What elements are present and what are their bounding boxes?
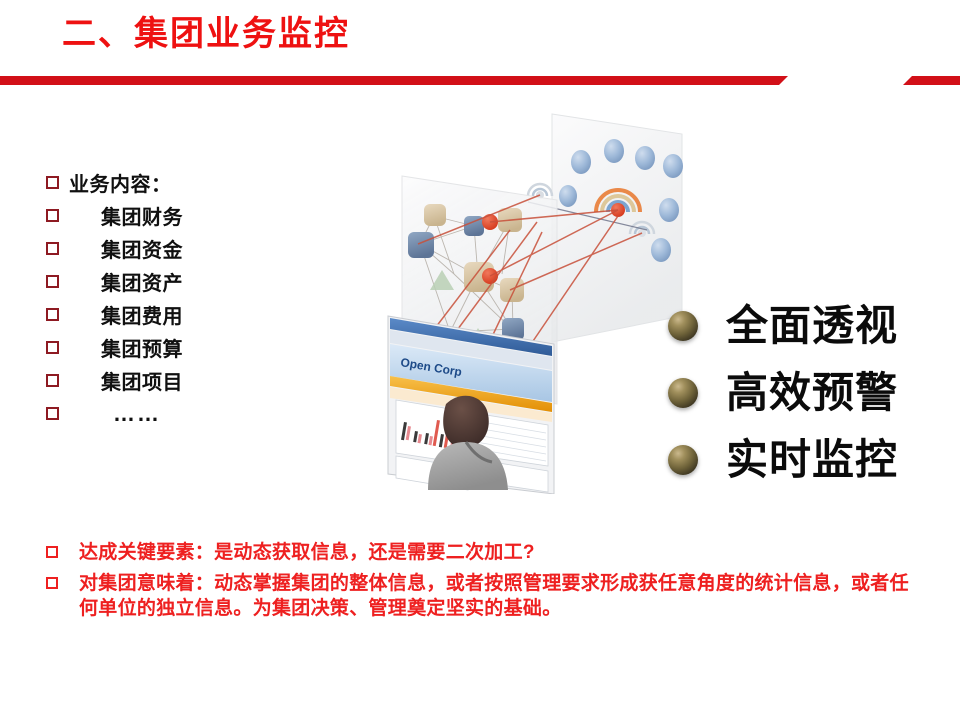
list-item-label: 集团资金 [101,234,183,263]
list-item-label: …… [113,401,161,427]
hollow-square-bullet-icon [46,407,59,420]
list-item: 对集团意味着：动态掌握集团的整体信息，或者按照管理要求形成获任意角度的统计信息，… [46,571,926,621]
hollow-square-bullet-icon [46,546,58,558]
list-item-label: 集团资产 [101,267,183,296]
key-point-text: 对集团意味着：动态掌握集团的整体信息，或者按照管理要求形成获任意角度的统计信息，… [79,571,926,621]
list-item: 高效预警 [668,359,958,426]
business-content-list: 业务内容： 集团财务 集团资金 集团资产 集团费用 集团预算 集团项目 [46,166,376,430]
key-points-block: 达成关键要素：是动态获取信息，还是需要二次加工? 对集团意味着：动态掌握集团的整… [46,540,926,627]
key-point-text: 达成关键要素：是动态获取信息，还是需要二次加工? [79,540,535,565]
list-item: 业务内容： [46,166,376,199]
hollow-square-bullet-icon [46,308,59,321]
hollow-square-bullet-icon [46,275,59,288]
benefit-label: 高效预警 [726,372,898,414]
list-item-label: 集团项目 [101,366,183,395]
benefits-list: 全面透视 高效预警 实时监控 [668,292,958,493]
list-item-label: 集团预算 [101,333,183,362]
hollow-square-bullet-icon [46,242,59,255]
title-divider-bar [0,76,788,85]
list-item-label: 业务内容： [69,168,172,197]
bronze-sphere-bullet-icon [668,445,698,475]
benefit-label: 全面透视 [726,305,898,347]
list-item: 集团资金 [46,232,376,265]
list-item: 实时监控 [668,426,958,493]
hollow-square-bullet-icon [46,209,59,222]
list-item-label: 集团费用 [101,300,183,329]
hollow-square-bullet-icon [46,577,58,589]
hollow-square-bullet-icon [46,341,59,354]
list-item: …… [46,397,376,430]
list-item: 集团费用 [46,298,376,331]
hollow-square-bullet-icon [46,374,59,387]
title-divider-accent [903,76,960,85]
list-item: 集团项目 [46,364,376,397]
page-title: 二、集团业务监控 [62,14,350,55]
bronze-sphere-bullet-icon [668,378,698,408]
slide-canvas: 二、集团业务监控 业务内容： 集团财务 集团资金 集团资产 集团费用 集团预算 [0,0,960,720]
list-item: 集团财务 [46,199,376,232]
bi-layers-illustration: Open Corp [382,104,692,494]
list-item: 全面透视 [668,292,958,359]
list-item: 集团预算 [46,331,376,364]
list-item-label: 集团财务 [101,201,183,230]
list-item: 达成关键要素：是动态获取信息，还是需要二次加工? [46,540,926,565]
hollow-square-bullet-icon [46,176,59,189]
bronze-sphere-bullet-icon [668,311,698,341]
list-item: 集团资产 [46,265,376,298]
benefit-label: 实时监控 [726,439,898,481]
